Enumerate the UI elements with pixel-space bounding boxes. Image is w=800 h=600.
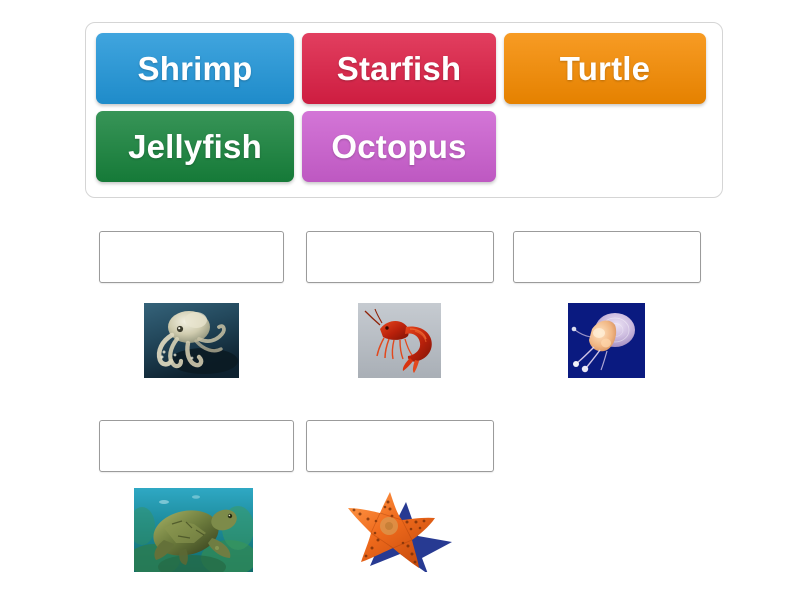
picture-octopus — [144, 303, 239, 378]
picture-shrimp — [358, 303, 441, 378]
activity-stage: Shrimp Starfish Turtle Jellyfish Octopus — [0, 0, 800, 600]
word-tile-turtle[interactable]: Turtle — [504, 33, 706, 104]
word-bank: Shrimp Starfish Turtle Jellyfish Octopus — [85, 22, 723, 198]
word-tile-starfish[interactable]: Starfish — [302, 33, 496, 104]
word-bank-row-1: Shrimp Starfish Turtle — [96, 33, 712, 104]
answer-slot-1[interactable] — [99, 231, 284, 283]
picture-jellyfish — [568, 303, 645, 378]
answer-slot-5[interactable] — [306, 420, 494, 472]
word-tile-shrimp[interactable]: Shrimp — [96, 33, 294, 104]
picture-turtle — [134, 488, 253, 572]
answer-slot-2[interactable] — [306, 231, 494, 283]
picture-starfish — [334, 488, 469, 572]
answer-slot-4[interactable] — [99, 420, 294, 472]
answer-slot-3[interactable] — [513, 231, 701, 283]
word-bank-row-2: Jellyfish Octopus — [96, 111, 712, 182]
word-tile-jellyfish[interactable]: Jellyfish — [96, 111, 294, 182]
word-tile-octopus[interactable]: Octopus — [302, 111, 496, 182]
